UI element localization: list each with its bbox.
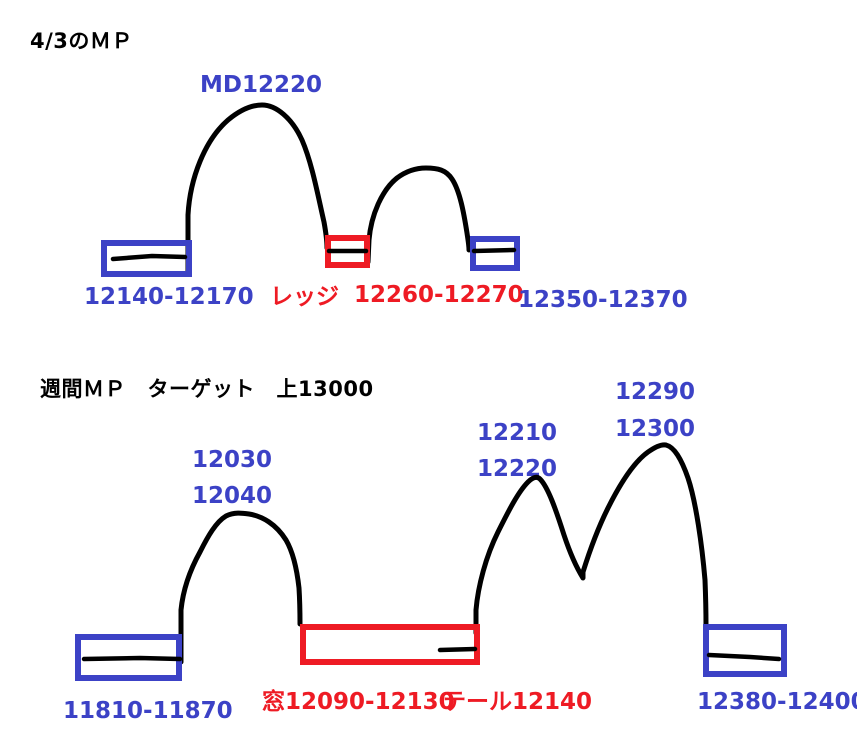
chart-bottom-title: 週間ＭＰ ターゲット 上13000	[40, 379, 374, 400]
chart-bottom-box-12380-12400	[706, 627, 784, 674]
chart-bottom-peak-label-12220: 12220	[477, 458, 557, 481]
chart-top-title: 4/3のＭＰ	[30, 31, 133, 52]
chart-bottom-box-11810-11870	[78, 637, 180, 678]
chart-bottom-zone-label-gap-12090-12130: 窓12090-12130	[262, 691, 455, 714]
chart-bottom-zone-label-11810-11870: 11810-11870	[63, 700, 233, 723]
chart-bottom-zone-label-tail-12140: テール12140	[443, 691, 592, 714]
chart-top-peak-label-md12220: MD12220	[200, 74, 322, 97]
chart-top-zone-label-12140-12170: 12140-12170	[84, 286, 254, 309]
chart-bottom-peak-label-12290: 12290	[615, 381, 695, 404]
chart-bottom-peak-label-12300: 12300	[615, 418, 695, 441]
chart-top-zone-label-12260-12270: 12260-12270	[354, 284, 524, 307]
chart-bottom-peak-label-12040: 12040	[192, 485, 272, 508]
chart-top-zone-label-ledge: レッジ	[270, 286, 339, 309]
chart-top-box-12140-12170	[104, 243, 189, 274]
chart-top-box-12260-12270	[328, 238, 367, 265]
chart-bottom-peak-label-12030: 12030	[192, 449, 272, 472]
sketch-canvas: 4/3のＭＰ MD12220 12140-12170 レッジ 12260-122…	[0, 0, 857, 745]
chart-top-zone-label-12350-12370: 12350-12370	[518, 289, 688, 312]
chart-top-curve	[188, 105, 469, 272]
chart-bottom-box-12090-12130	[303, 627, 477, 662]
chart-bottom-peak-label-12210: 12210	[477, 422, 557, 445]
chart-top-box-12350-12370	[473, 239, 517, 268]
handdrawn-profile-artwork	[0, 0, 857, 745]
chart-bottom-curve-left	[181, 513, 300, 662]
chart-bottom-zone-label-12380-12400: 12380-12400	[697, 691, 857, 714]
